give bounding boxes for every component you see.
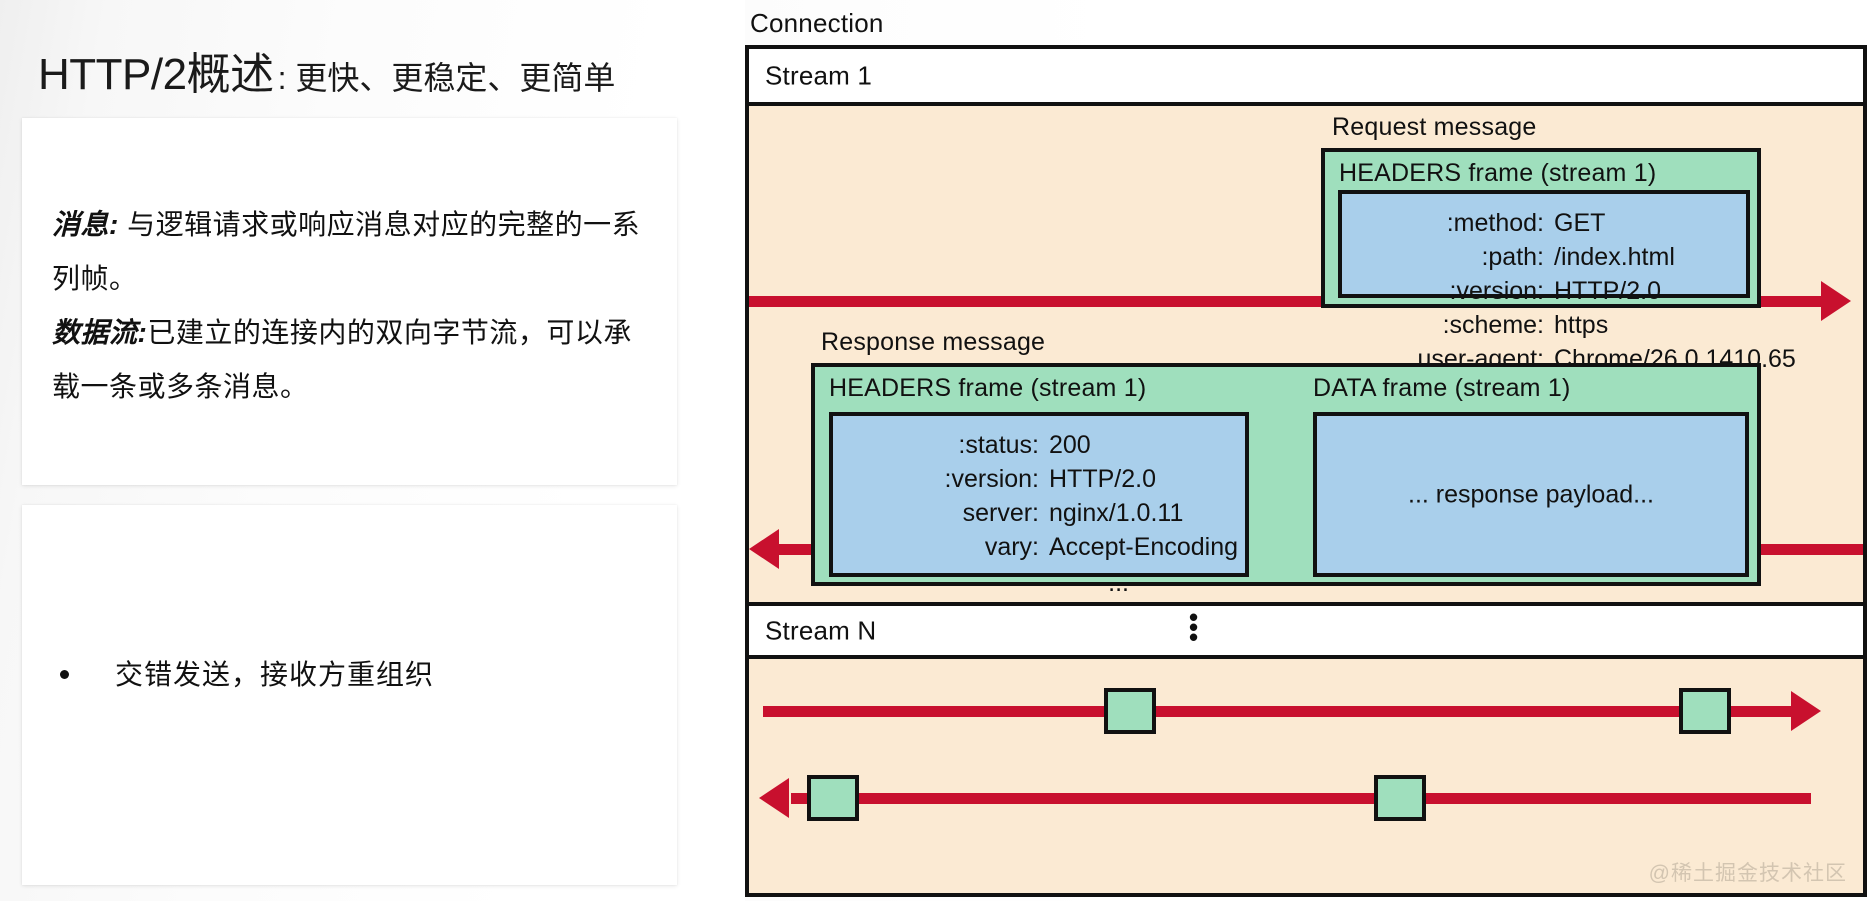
page-title-subtitle: : 更快、更稳定、更简单 — [278, 60, 616, 96]
stream-n-request-arrow-head-icon — [1791, 691, 1821, 731]
response-payload-text: ... response payload... — [1317, 480, 1745, 509]
header-key: :method: — [1358, 206, 1554, 240]
table-row-ellipsis: ... — [833, 564, 1245, 600]
stream-1-label: Stream 1 — [765, 60, 872, 91]
table-row: :status: 200 — [833, 428, 1245, 462]
header-key: :path: — [1358, 240, 1554, 274]
stream-n-frame-block — [1104, 688, 1156, 734]
header-key: :version: — [1358, 274, 1554, 308]
definition-stream-term: 数据流: — [52, 317, 147, 348]
header-key: server: — [849, 496, 1049, 530]
table-row: :version: HTTP/2.0 — [1342, 274, 1746, 308]
stream-n-frame-block — [1679, 688, 1731, 734]
list-item: 交错发送，接收方重组织 — [56, 653, 434, 693]
header-key: :version: — [849, 462, 1049, 496]
stream-n-frame-block — [807, 775, 859, 821]
response-message-frame: HEADERS frame (stream 1) DATA frame (str… — [811, 363, 1761, 586]
definition-message-term: 消息: — [52, 209, 119, 240]
table-row: :version: HTTP/2.0 — [833, 462, 1245, 496]
header-value: Accept-Encoding — [1049, 530, 1238, 564]
header-value: /index.html — [1554, 240, 1730, 274]
definition-stream: 数据流:已建立的连接内的双向字节流，可以承载一条或多条消息。 — [52, 306, 652, 414]
table-row: :path: /index.html — [1342, 240, 1746, 274]
header-value: https — [1554, 308, 1730, 342]
request-headers-list: :method: GET :path: /index.html :version… — [1342, 206, 1746, 376]
request-headers-payload-box: :method: GET :path: /index.html :version… — [1338, 190, 1750, 298]
request-headers-frame: HEADERS frame (stream 1) :method: GET :p… — [1321, 148, 1761, 308]
header-value: GET — [1554, 206, 1730, 240]
header-value: HTTP/2.0 — [1554, 274, 1730, 308]
header-key: vary: — [849, 530, 1049, 564]
stream-1-body: Request message HEADERS frame (stream 1)… — [749, 106, 1863, 602]
header-value: HTTP/2.0 — [1049, 462, 1229, 496]
vertical-ellipsis-icon: ••• — [1189, 612, 1198, 642]
request-arrow-head-icon — [1821, 281, 1851, 321]
table-row: vary: Accept-Encoding — [833, 530, 1245, 564]
connection-label: Connection — [750, 8, 884, 39]
bullet-text: 交错发送，接收方重组织 — [115, 653, 434, 693]
response-arrow-head-icon — [749, 529, 779, 569]
response-headers-payload-box: :status: 200 :version: HTTP/2.0 server: … — [829, 412, 1249, 577]
stream-n-response-arrow-head-icon — [759, 778, 789, 818]
bullet-dot-icon — [60, 670, 69, 679]
stream-n-frame-block — [1374, 775, 1426, 821]
response-message-label: Response message — [821, 328, 1045, 357]
stream-1-header: Stream 1 — [749, 49, 1863, 106]
stream-n-body: @稀土掘金技术社区 — [749, 659, 1863, 893]
stream-n-header: Stream N ••• — [749, 602, 1863, 659]
connection-box: Stream 1 Request message HEADERS frame (… — [745, 45, 1867, 897]
header-key: :status: — [849, 428, 1049, 462]
bullets-card: 交错发送，接收方重组织 — [22, 505, 677, 885]
definition-message-text: 与逻辑请求或响应消息对应的完整的一系列帧。 — [52, 209, 640, 294]
response-data-frame-title: DATA frame (stream 1) — [1313, 374, 1570, 403]
header-key-ellipsis: ... — [939, 566, 1139, 600]
http2-connection-diagram: Connection Stream 1 Request message HEAD… — [745, 0, 1870, 901]
definition-message: 消息: 与逻辑请求或响应消息对应的完整的一系列帧。 — [52, 198, 652, 306]
response-headers-frame-title: HEADERS frame (stream 1) — [829, 374, 1146, 403]
table-row: :method: GET — [1342, 206, 1746, 240]
page-title-main: HTTP/2概述 — [38, 50, 274, 99]
slide-left-panel: HTTP/2概述: 更快、更稳定、更简单 消息: 与逻辑请求或响应消息对应的完整… — [0, 0, 745, 901]
definitions-card: 消息: 与逻辑请求或响应消息对应的完整的一系列帧。 数据流:已建立的连接内的双向… — [22, 118, 677, 485]
stream-n-label: Stream N — [765, 615, 876, 646]
response-data-payload-box: ... response payload... — [1313, 412, 1749, 577]
stream-n-request-arrow-line — [763, 706, 1803, 717]
page-title: HTTP/2概述: 更快、更稳定、更简单 — [38, 38, 615, 102]
stream-n-response-arrow-line — [791, 793, 1811, 804]
request-headers-frame-title: HEADERS frame (stream 1) — [1339, 159, 1656, 188]
response-headers-list: :status: 200 :version: HTTP/2.0 server: … — [833, 428, 1245, 600]
header-value: nginx/1.0.11 — [1049, 496, 1229, 530]
header-key: :scheme: — [1358, 308, 1554, 342]
watermark: @稀土掘金技术社区 — [1649, 857, 1847, 887]
request-message-label: Request message — [1332, 113, 1537, 142]
header-value: 200 — [1049, 428, 1229, 462]
table-row: :scheme: https — [1342, 308, 1746, 342]
table-row: server: nginx/1.0.11 — [833, 496, 1245, 530]
